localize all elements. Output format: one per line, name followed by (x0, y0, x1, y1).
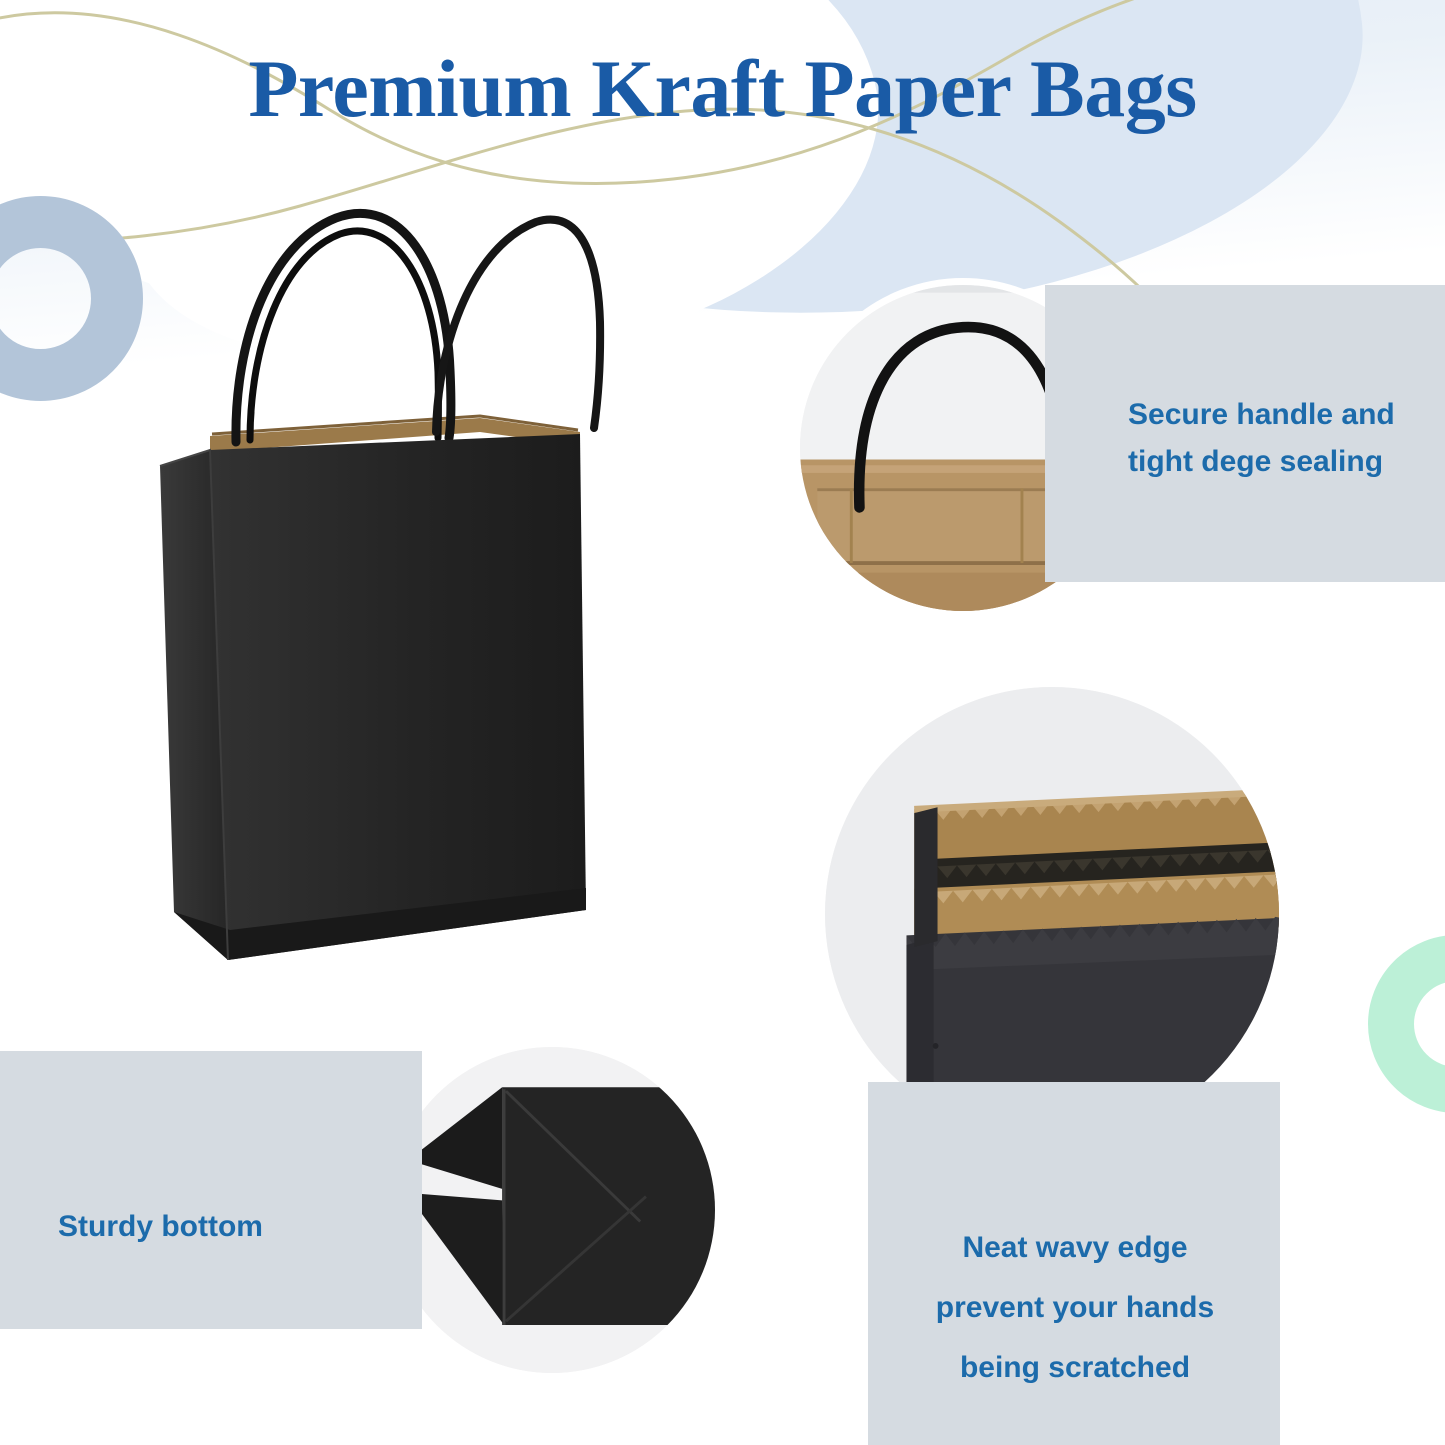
caption-wavy-line1: Neat wavy edge (900, 1218, 1250, 1278)
page-title: Premium Kraft Paper Bags (0, 48, 1445, 130)
caption-bottom-line1: Sturdy bottom (58, 1206, 378, 1248)
caption-handle: Secure handle and tight dege sealing (1128, 392, 1428, 485)
caption-handle-line1: Secure handle and (1128, 392, 1428, 439)
caption-wavy-line3: being scratched (900, 1338, 1250, 1398)
product-infographic-poster: Premium Kraft Paper Bags (0, 0, 1445, 1445)
caption-wavy-edge: Neat wavy edge prevent your hands being … (900, 1218, 1250, 1398)
hero-product-image (150, 170, 670, 990)
caption-bottom: Sturdy bottom (58, 1206, 378, 1248)
caption-wavy-line2: prevent your hands (900, 1278, 1250, 1338)
caption-panel-bottom (0, 1051, 422, 1329)
inset-bottom-photo (382, 1040, 722, 1380)
caption-handle-line2: tight dege sealing (1128, 439, 1428, 486)
inset-wavy-edge-photo (818, 680, 1286, 1148)
